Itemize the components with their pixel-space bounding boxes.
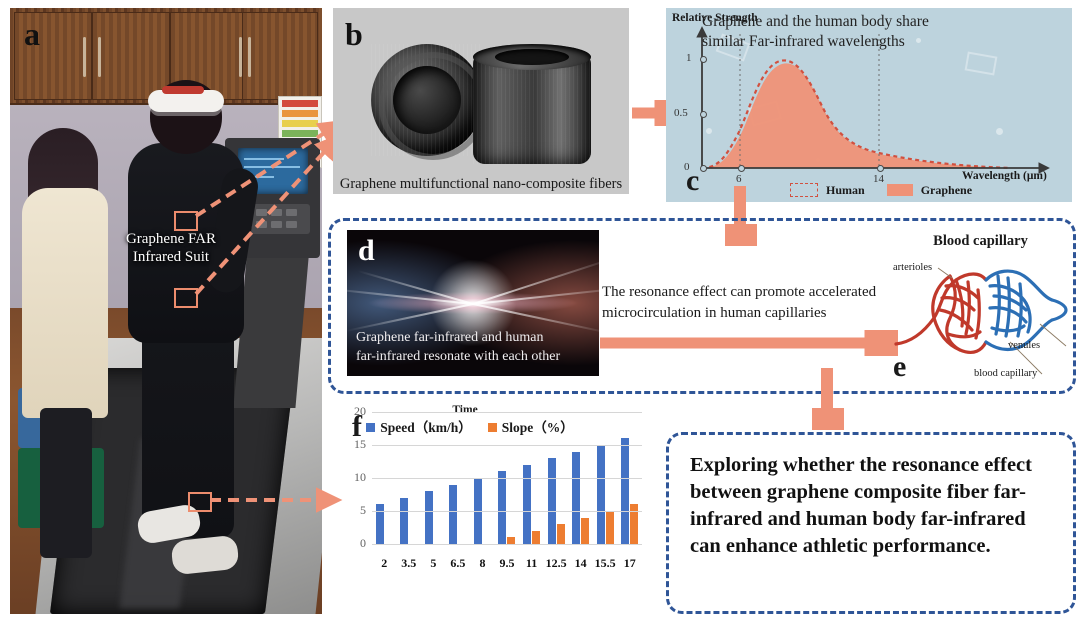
chart-xtick-8: 8	[470, 556, 495, 571]
panel-f-protocol-chart: Time Speed（km/h） Slope（%） 2015105023.556…	[330, 404, 660, 604]
arrow-de-to-conclusion	[812, 368, 844, 430]
panel-d-caption-line2: far-infrared resonate with each other	[356, 347, 588, 366]
chart-ytick-10: 10	[338, 470, 366, 485]
bar-speed[interactable]	[449, 485, 457, 544]
legend-swatch-graphene	[887, 184, 913, 196]
bar-slope[interactable]	[557, 524, 565, 544]
chart-gridline	[372, 544, 642, 545]
resonance-effect-text: The resonance effect can promote acceler…	[602, 282, 902, 324]
bar-speed[interactable]	[400, 498, 408, 544]
bar-speed[interactable]	[621, 438, 629, 544]
chart-gridline	[372, 412, 642, 413]
tick-marker-6	[738, 165, 745, 172]
chart-xtick-2: 2	[372, 556, 397, 571]
label-venules: venules	[1008, 340, 1040, 351]
bar-speed[interactable]	[572, 452, 580, 544]
panel-b-fibers: b	[333, 8, 629, 194]
treadmill-rail	[233, 258, 308, 408]
panel-c-title-line2: similar Far-infrared wavelengths	[702, 32, 1012, 52]
resonance-text-line1: The resonance effect can promote acceler…	[602, 282, 902, 303]
panel-c-title: Graphene and the human body share simila…	[702, 12, 1012, 52]
panel-letter-e: e	[893, 352, 906, 382]
chart-xtick-14: 14	[568, 556, 593, 571]
legend-label-graphene: Graphene	[921, 183, 972, 198]
xtick-6: 6	[736, 173, 742, 185]
chart-xtick-12.5: 12.5	[544, 556, 569, 571]
panel-letter-f: f	[352, 412, 362, 442]
chart-xtick-11: 11	[519, 556, 544, 571]
tick-marker-y1	[700, 56, 707, 63]
fiber-spool-standing-bore	[495, 49, 569, 65]
panel-d-caption: Graphene far-infrared and human far-infr…	[356, 328, 588, 366]
chart-xtick-6.5: 6.5	[446, 556, 471, 571]
tick-marker-14	[877, 165, 884, 172]
researcher-legs	[40, 408, 92, 558]
bar-speed[interactable]	[425, 491, 433, 544]
bar-slope[interactable]	[532, 531, 540, 544]
panel-b-caption: Graphene multifunctional nano-composite …	[333, 176, 629, 200]
bar-slope[interactable]	[581, 518, 589, 544]
chart-ytick-5: 5	[338, 503, 366, 518]
label-blood-capillary: blood capillary	[974, 368, 1037, 379]
chart-xtick-3.5: 3.5	[397, 556, 422, 571]
chart-gridline	[372, 478, 642, 479]
chart-gridline	[372, 445, 642, 446]
legend-label-human: Human	[826, 183, 865, 198]
bar-speed[interactable]	[498, 471, 506, 544]
bar-speed[interactable]	[597, 445, 605, 544]
chart-gridline	[372, 511, 642, 512]
conclusion-text: Exploring whether the resonance effect b…	[690, 452, 1052, 560]
resonance-text-line2: microcirculation in human capillaries	[602, 303, 902, 324]
chart-xtick-5: 5	[421, 556, 446, 571]
tick-marker-x6	[700, 165, 707, 172]
panel-letter-b: b	[345, 18, 363, 50]
bar-slope[interactable]	[507, 537, 515, 544]
panel-c-legend: Human Graphene	[790, 182, 1020, 198]
label-arterioles: arterioles	[893, 262, 932, 273]
panel-letter-a: a	[24, 18, 40, 50]
panel-letter-c: c	[686, 166, 699, 196]
panel-c-xlabel: Wavelength (μm)	[962, 170, 1047, 182]
bar-speed[interactable]	[523, 465, 531, 544]
ytick-1: 1	[686, 52, 692, 64]
panel-letter-d: d	[358, 236, 375, 266]
suit-marker-lower	[174, 288, 198, 308]
fiber-spool-lying-rim	[379, 52, 487, 160]
ytick-05: 0.5	[674, 107, 688, 119]
suit-label-line2: Infrared Suit	[96, 248, 246, 266]
bar-slope[interactable]	[606, 511, 614, 544]
chart-xtick-17: 17	[617, 556, 642, 571]
suit-label-line1: Graphene FAR	[96, 230, 246, 248]
treadmill-marker	[188, 492, 212, 512]
chart-xtick-9.5: 9.5	[495, 556, 520, 571]
bar-speed[interactable]	[548, 458, 556, 544]
suit-label: Graphene FAR Infrared Suit	[96, 230, 246, 266]
arrow-d-to-e	[598, 330, 898, 356]
suit-marker-upper	[174, 211, 198, 231]
panel-a-photo: Graphene FAR Infrared Suit a	[10, 8, 322, 614]
legend-swatch-human	[790, 183, 818, 197]
researcher-coat	[22, 188, 108, 418]
panel-d-caption-line1: Graphene far-infrared and human	[356, 328, 588, 347]
headband-red-strap	[162, 86, 204, 94]
chart-ytick-0: 0	[338, 536, 366, 551]
chart-xtick-15.5: 15.5	[593, 556, 618, 571]
panel-c-title-line1: Graphene and the human body share	[702, 12, 1012, 32]
tick-marker-y05	[700, 111, 707, 118]
